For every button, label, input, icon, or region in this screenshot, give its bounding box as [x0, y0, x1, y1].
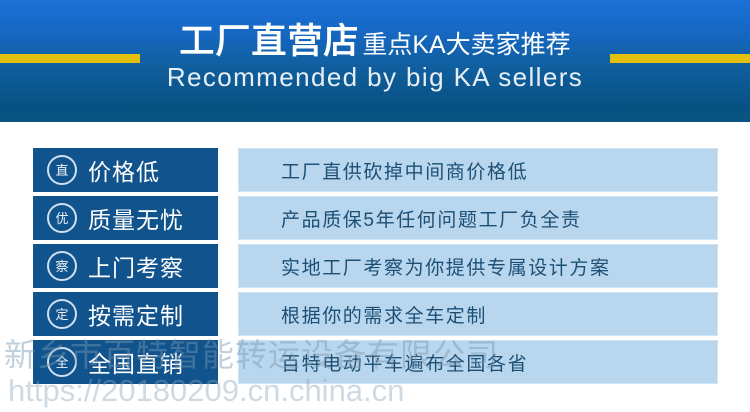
banner-subtitle-en: Recommended by big KA sellers	[0, 64, 750, 90]
feature-badge-icon: 定	[47, 299, 77, 329]
feature-description-panel: 百特电动平车遍布全国各省	[238, 340, 718, 384]
feature-description-text: 百特电动平车遍布全国各省	[281, 349, 528, 376]
features-section: 直价格低工厂直供砍掉中间商价格低优质量无忧产品质保5年任何问题工厂负全责察上门考…	[0, 122, 750, 412]
feature-description-text: 根据你的需求全车定制	[281, 301, 487, 328]
feature-description-text: 实地工厂考察为你提供专属设计方案	[281, 253, 611, 280]
feature-badge-icon: 全	[47, 347, 77, 377]
header-banner: 工厂直营店重点KA大卖家推荐 Recommended by big KA sel…	[0, 0, 750, 122]
feature-tag-label: 全国直销	[88, 345, 184, 379]
feature-badge-icon: 察	[47, 251, 77, 281]
feature-row: 全全国直销百特电动平车遍布全国各省	[0, 340, 750, 384]
feature-description-panel: 工厂直供砍掉中间商价格低	[238, 148, 718, 192]
feature-tag-label: 上门考察	[88, 249, 184, 283]
feature-tag[interactable]: 定按需定制	[33, 292, 218, 336]
feature-row: 察上门考察实地工厂考察为你提供专属设计方案	[0, 244, 750, 288]
promo-banner-page: 工厂直营店重点KA大卖家推荐 Recommended by big KA sel…	[0, 0, 750, 412]
feature-tag[interactable]: 优质量无忧	[33, 196, 218, 240]
feature-row: 直价格低工厂直供砍掉中间商价格低	[0, 148, 750, 192]
feature-description-panel: 根据你的需求全车定制	[238, 292, 718, 336]
feature-description-text: 产品质保5年任何问题工厂负全责	[281, 205, 582, 232]
feature-description-panel: 产品质保5年任何问题工厂负全责	[238, 196, 718, 240]
feature-badge-icon: 直	[47, 155, 77, 185]
feature-tag-label: 价格低	[88, 153, 160, 187]
feature-tag[interactable]: 察上门考察	[33, 244, 218, 288]
feature-tag[interactable]: 直价格低	[33, 148, 218, 192]
feature-description-panel: 实地工厂考察为你提供专属设计方案	[238, 244, 718, 288]
feature-description-text: 工厂直供砍掉中间商价格低	[281, 157, 528, 184]
feature-tag-label: 按需定制	[88, 297, 184, 331]
feature-tag-label: 质量无忧	[88, 201, 184, 235]
banner-title-sub: 重点KA大卖家推荐	[362, 31, 570, 59]
feature-tag[interactable]: 全全国直销	[33, 340, 218, 384]
feature-row: 定按需定制根据你的需求全车定制	[0, 292, 750, 336]
banner-headline: 工厂直营店重点KA大卖家推荐	[0, 24, 750, 59]
banner-title-main: 工厂直营店	[179, 22, 359, 61]
feature-badge-icon: 优	[47, 203, 77, 233]
feature-row: 优质量无忧产品质保5年任何问题工厂负全责	[0, 196, 750, 240]
